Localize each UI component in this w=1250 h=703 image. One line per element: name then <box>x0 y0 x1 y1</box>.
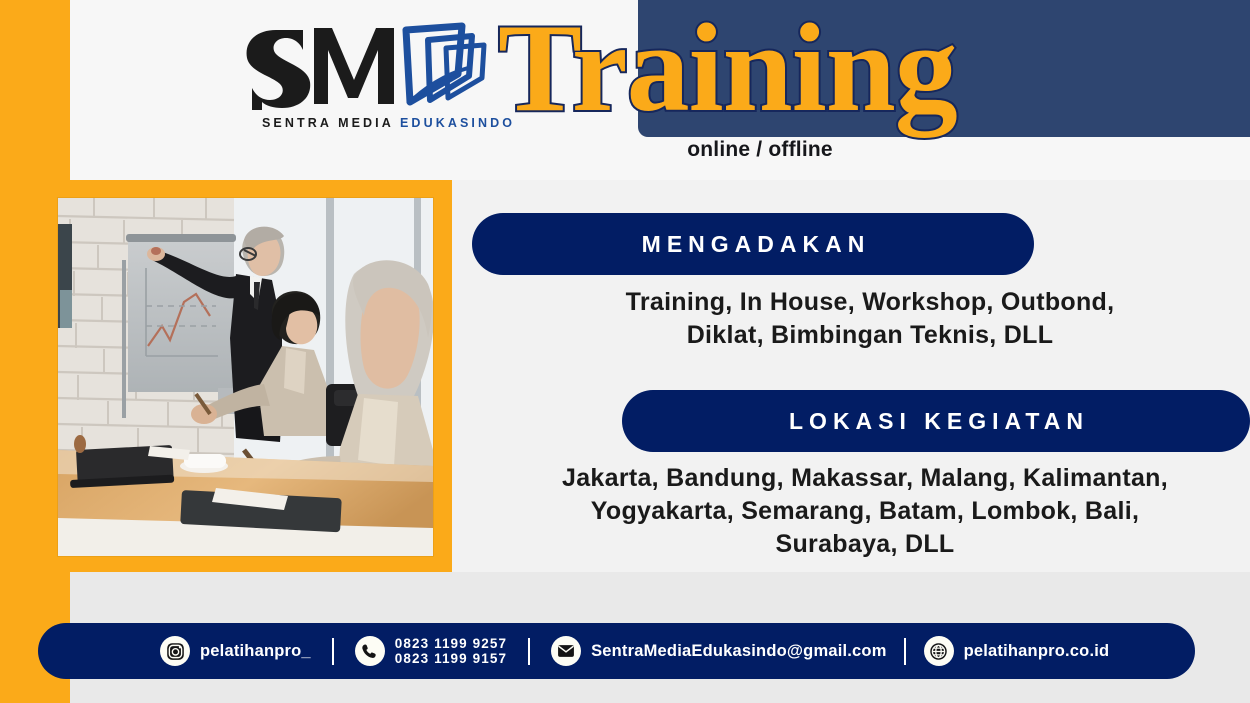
lokasi-line-2: Yogyakarta, Semarang, Batam, Lombok, Bal… <box>480 495 1250 528</box>
phone-icon <box>355 636 385 666</box>
footer-divider-1 <box>332 638 334 665</box>
page-title: Training <box>498 10 1038 128</box>
instagram-icon <box>160 636 190 666</box>
sm-book-logo-icon <box>232 18 490 114</box>
logo-wordmark-dark: SENTRA MEDIA <box>262 116 393 130</box>
phone-number-2: 0823 1199 9157 <box>395 651 507 666</box>
envelope-icon <box>551 636 581 666</box>
headline-area: Training <box>498 10 1038 140</box>
email-contact[interactable]: SentraMediaEdukasindo@gmail.com <box>551 636 887 666</box>
phone-numbers: 0823 1199 9257 0823 1199 9157 <box>395 636 507 666</box>
website-contact[interactable]: pelatihanpro.co.id <box>924 636 1110 666</box>
company-logo: SENTRA MEDIA EDUKASINDO <box>232 18 490 140</box>
contact-footer-bar: pelatihanpro_ 0823 1199 9257 0823 1199 9… <box>38 623 1195 679</box>
mengadakan-line-1: Training, In House, Workshop, Outbond, <box>500 286 1240 319</box>
training-promo-poster: SENTRA MEDIA EDUKASINDO Training online … <box>0 0 1250 703</box>
lokasi-line-3: Surabaya, DLL <box>480 528 1250 561</box>
lokasi-kegiatan-pill-label: LOKASI KEGIATAN <box>783 408 1089 435</box>
mengadakan-copy: Training, In House, Workshop, Outbond, D… <box>500 286 1240 352</box>
website-url: pelatihanpro.co.id <box>964 642 1110 661</box>
phone-contact[interactable]: 0823 1199 9257 0823 1199 9157 <box>355 636 507 666</box>
globe-icon <box>924 636 954 666</box>
instagram-handle: pelatihanpro_ <box>200 642 311 661</box>
training-session-photo <box>58 198 433 556</box>
photo-illustration <box>58 198 433 556</box>
logo-wordmark: SENTRA MEDIA EDUKASINDO <box>262 117 492 130</box>
phone-number-1: 0823 1199 9257 <box>395 636 507 651</box>
email-address: SentraMediaEdukasindo@gmail.com <box>591 642 887 661</box>
footer-divider-3 <box>904 638 906 665</box>
headline-subtitle: online / offline <box>600 138 920 162</box>
lokasi-kegiatan-copy: Jakarta, Bandung, Makassar, Malang, Kali… <box>480 462 1250 561</box>
lokasi-line-1: Jakarta, Bandung, Makassar, Malang, Kali… <box>480 462 1250 495</box>
mengadakan-line-2: Diklat, Bimbingan Teknis, DLL <box>500 319 1240 352</box>
footer-divider-2 <box>528 638 530 665</box>
mengadakan-pill: MENGADAKAN <box>472 213 1034 275</box>
lokasi-kegiatan-pill: LOKASI KEGIATAN <box>622 390 1250 452</box>
mengadakan-pill-label: MENGADAKAN <box>636 231 871 258</box>
instagram-contact[interactable]: pelatihanpro_ <box>160 636 311 666</box>
